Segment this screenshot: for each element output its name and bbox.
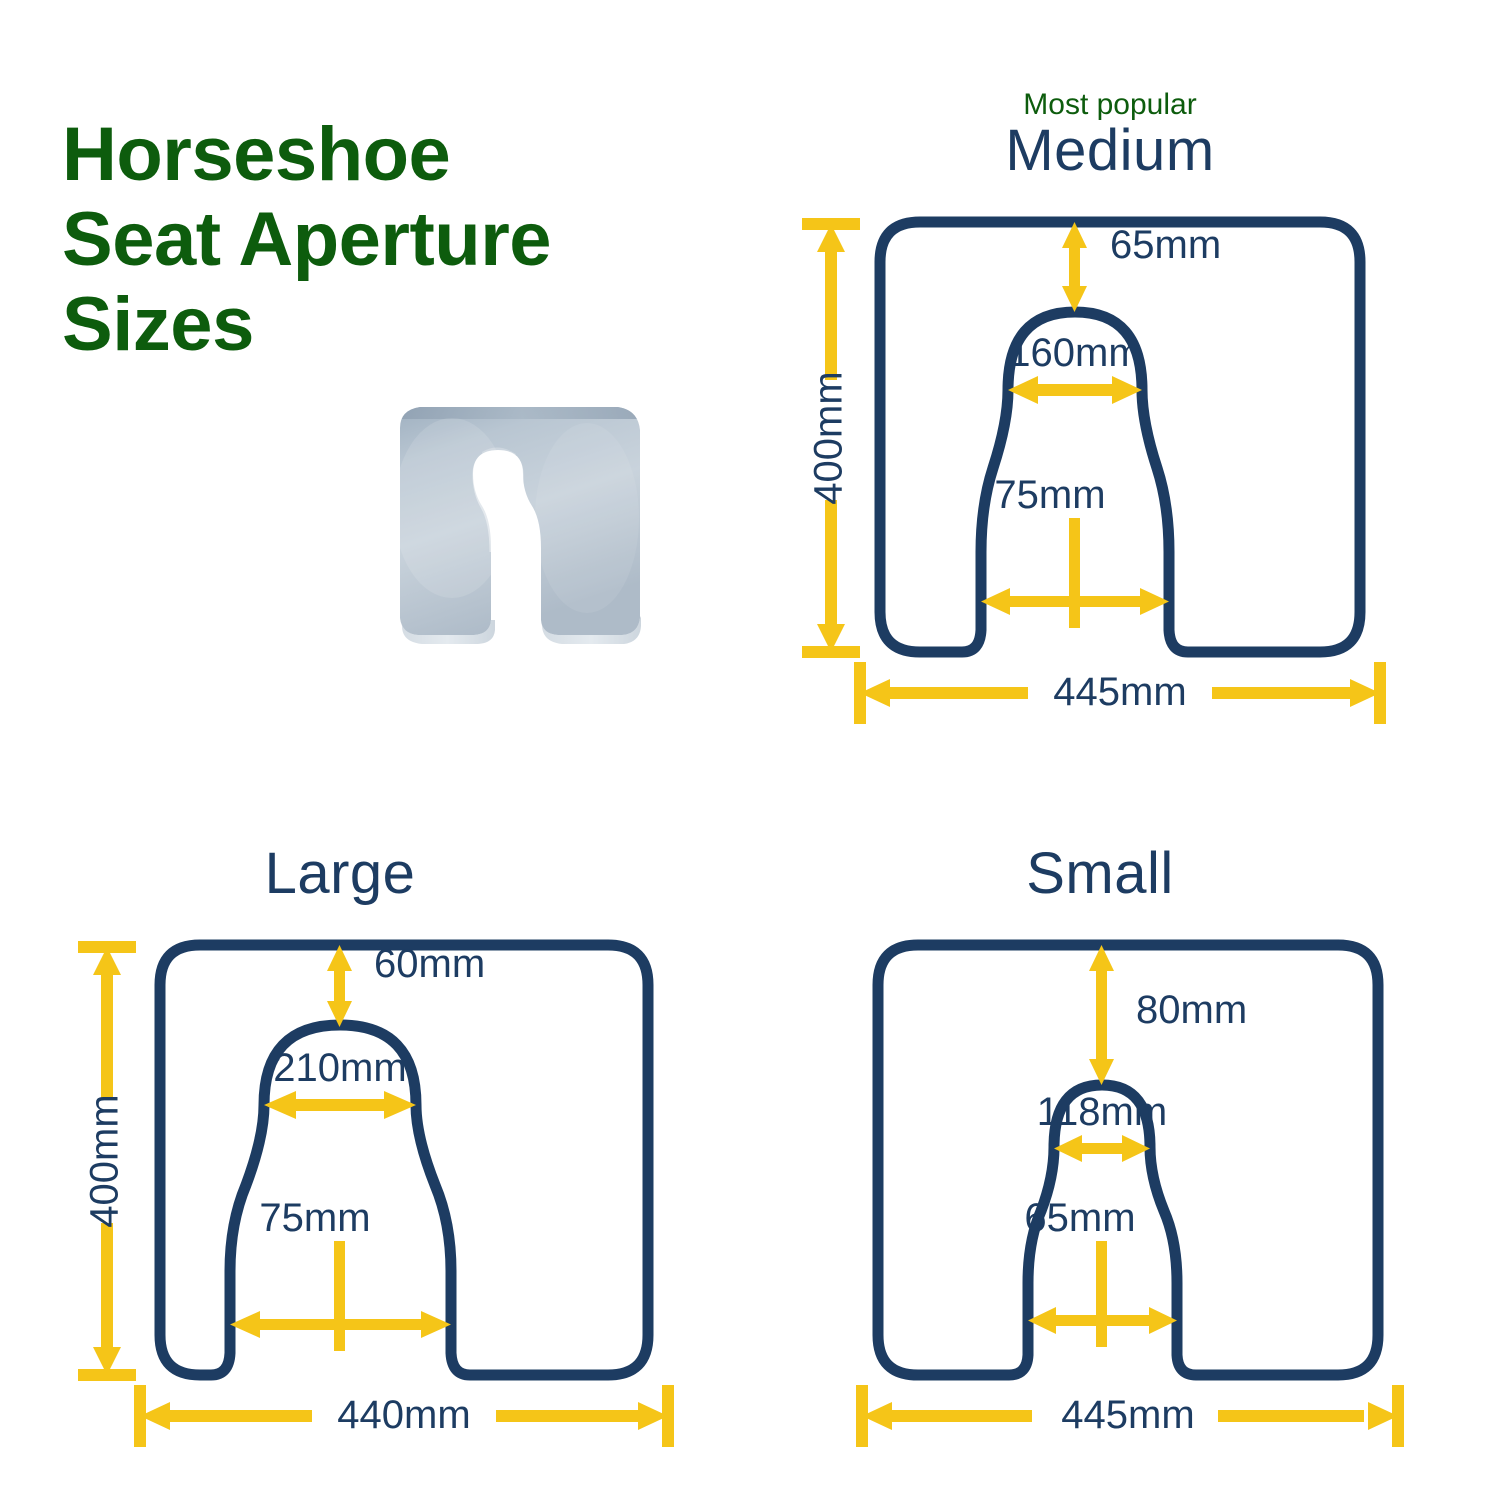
dim-label-aperture-width-large: 210mm	[273, 1046, 406, 1090]
dim-label-width-large: 440mm	[337, 1393, 470, 1437]
dim-label-neckgap-medium: 75mm	[994, 473, 1105, 517]
heading-medium: Medium	[910, 122, 1310, 180]
dim-label-neckgap-small: 65mm	[1024, 1196, 1135, 1240]
dim-label-height-large: 400mm	[83, 1094, 127, 1227]
dim-neckgap-small: 65mm	[1024, 1196, 1177, 1347]
dim-topgap-medium: 65mm	[1062, 222, 1221, 312]
dim-width-large: 440mm	[134, 1385, 674, 1447]
dim-label-topgap-small: 80mm	[1136, 988, 1247, 1032]
large-diagram: 400mm 60mm 210mm 75m	[60, 923, 720, 1483]
dim-label-topgap-large: 60mm	[374, 942, 485, 986]
dim-label-topgap-medium: 65mm	[1110, 223, 1221, 267]
dim-topgap-large: 60mm	[327, 942, 485, 1027]
panel-medium: Most popular Medium 400mm	[780, 90, 1420, 750]
cushion-outline-medium	[880, 222, 1360, 652]
medium-diagram: 400mm 65mm 160mm 75m	[780, 200, 1420, 760]
dim-label-aperture-width-small: 118mm	[1037, 1090, 1167, 1134]
dim-width-small: 445mm	[856, 1385, 1404, 1447]
small-diagram: 80mm 118mm 65mm	[840, 923, 1460, 1483]
dim-width-medium: 445mm	[854, 662, 1386, 724]
dim-label-width-small: 445mm	[1061, 1393, 1194, 1437]
dim-height-medium: 400mm	[802, 218, 860, 658]
panel-large: Large 400mm 60mm	[60, 845, 720, 1485]
dim-label-aperture-width-medium: 160mm	[1008, 331, 1141, 375]
panel-small: Small 80mm 118mm	[840, 845, 1460, 1485]
badge-most-popular: Most popular	[960, 90, 1260, 120]
dim-label-width-medium: 445mm	[1053, 670, 1186, 714]
dim-label-neckgap-large: 75mm	[259, 1196, 370, 1240]
cushion-outline-small	[878, 945, 1378, 1375]
page-title: Horseshoe Seat Aperture Sizes	[62, 112, 722, 367]
dim-aperture-width-medium: 160mm	[1008, 331, 1142, 404]
diagram-canvas: Horseshoe Seat Aperture Sizes	[0, 0, 1500, 1500]
dim-topgap-small: 80mm	[1089, 945, 1247, 1085]
dim-label-height-medium: 400mm	[807, 371, 851, 504]
dim-neckgap-medium: 75mm	[981, 473, 1169, 628]
product-photo	[382, 388, 662, 650]
heading-large: Large	[140, 845, 540, 903]
heading-small: Small	[900, 845, 1300, 903]
dim-neckgap-large: 75mm	[230, 1196, 451, 1351]
title-block: Horseshoe Seat Aperture Sizes	[62, 112, 722, 367]
cushion-illustration	[382, 388, 662, 650]
dim-aperture-width-large: 210mm	[264, 1046, 416, 1119]
cushion-outline-large	[160, 945, 648, 1375]
dim-height-large: 400mm	[78, 941, 136, 1381]
